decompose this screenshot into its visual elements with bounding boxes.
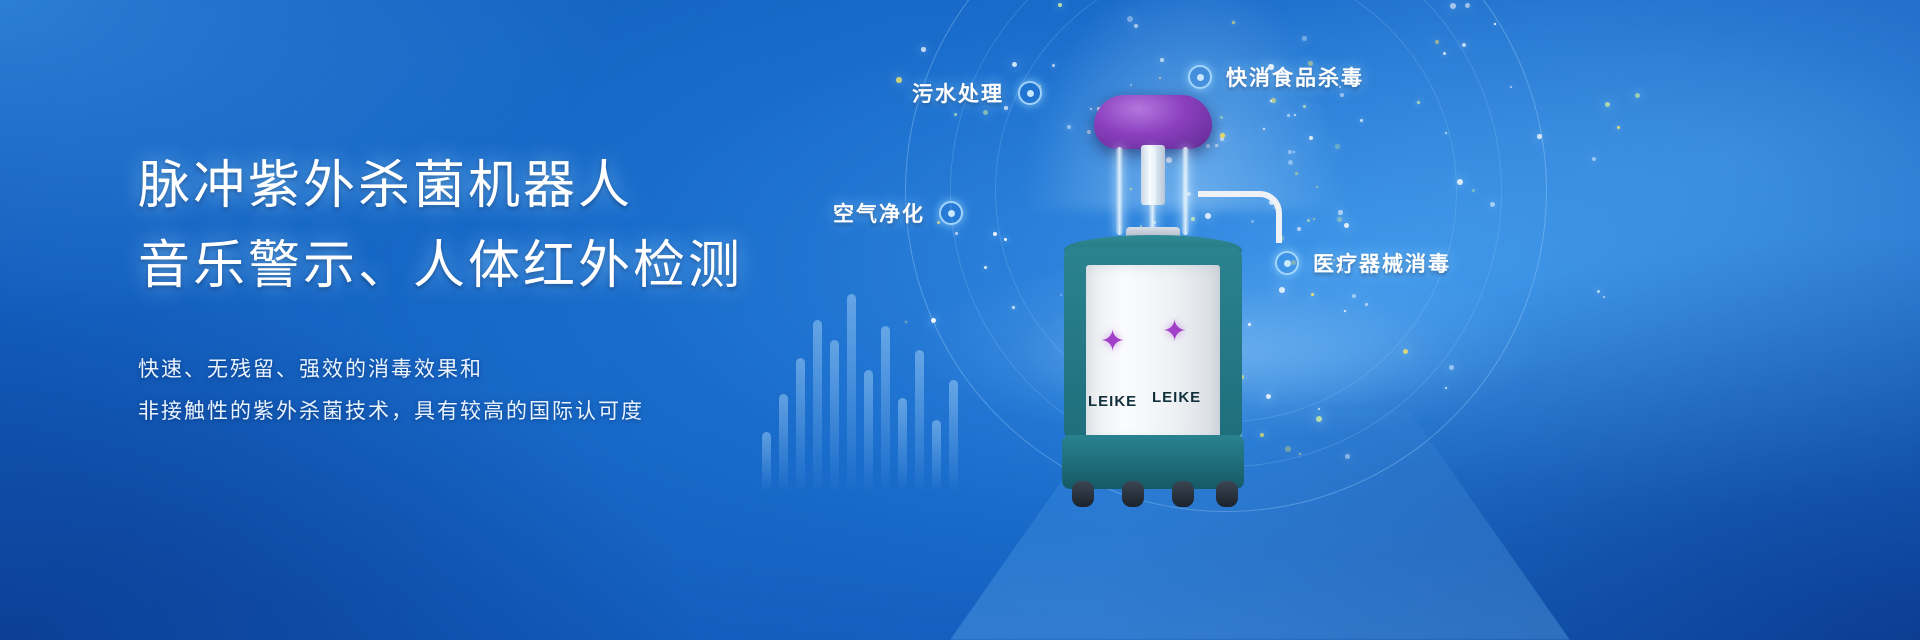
callout-label: 空气净化 <box>833 198 925 228</box>
wheel-3 <box>1172 481 1194 507</box>
ring-node-icon <box>1275 251 1299 275</box>
uv-tube-left <box>1116 147 1123 235</box>
callout-wastewater[interactable]: 污水处理 <box>912 78 1042 108</box>
wheel-4 <box>1216 481 1238 507</box>
page-subtitle: 音乐警示、人体红外检测 <box>138 230 858 304</box>
uv-tube-right <box>1182 147 1189 235</box>
page-title: 脉冲紫外杀菌机器人 <box>138 150 858 224</box>
brand-label-right: LEIKE <box>1152 389 1201 406</box>
wheel-1 <box>1072 481 1094 507</box>
spark-icon-left: ✦ <box>1100 327 1125 357</box>
description-line-1: 快速、无残留、强效的消毒效果和 <box>138 348 858 390</box>
ring-node-icon <box>1188 65 1212 89</box>
callout-medical-device-sterilization[interactable]: 医疗器械消毒 <box>1275 248 1451 278</box>
brand-label-left: LEIKE <box>1088 393 1137 410</box>
hero-banner: 脉冲紫外杀菌机器人 音乐警示、人体红外检测 快速、无残留、强效的消毒效果和 非接… <box>0 0 1920 640</box>
callout-label: 医疗器械消毒 <box>1313 248 1451 278</box>
hero-description: 快速、无残留、强效的消毒效果和 非接触性的紫外杀菌技术，具有较高的国际认可度 <box>138 348 858 432</box>
description-line-2: 非接触性的紫外杀菌技术，具有较高的国际认可度 <box>138 390 858 432</box>
uv-robot-illustration: ✦ ✦ LEIKE LEIKE <box>1030 95 1260 515</box>
callout-food-disinfection[interactable]: 快消食品杀毒 <box>1188 62 1364 92</box>
callout-air-purification[interactable]: 空气净化 <box>833 198 963 228</box>
uv-tube-center <box>1149 147 1156 235</box>
callout-label: 快消食品杀毒 <box>1226 62 1364 92</box>
spark-icon-right: ✦ <box>1162 317 1187 347</box>
hero-copy: 脉冲紫外杀菌机器人 音乐警示、人体红外检测 快速、无残留、强效的消毒效果和 非接… <box>138 150 858 432</box>
ring-node-icon <box>939 201 963 225</box>
robot-handle <box>1198 191 1282 243</box>
lamp-dome <box>1094 95 1212 149</box>
wheel-2 <box>1122 481 1144 507</box>
robot-base <box>1062 435 1244 489</box>
callout-label: 污水处理 <box>912 78 1004 108</box>
